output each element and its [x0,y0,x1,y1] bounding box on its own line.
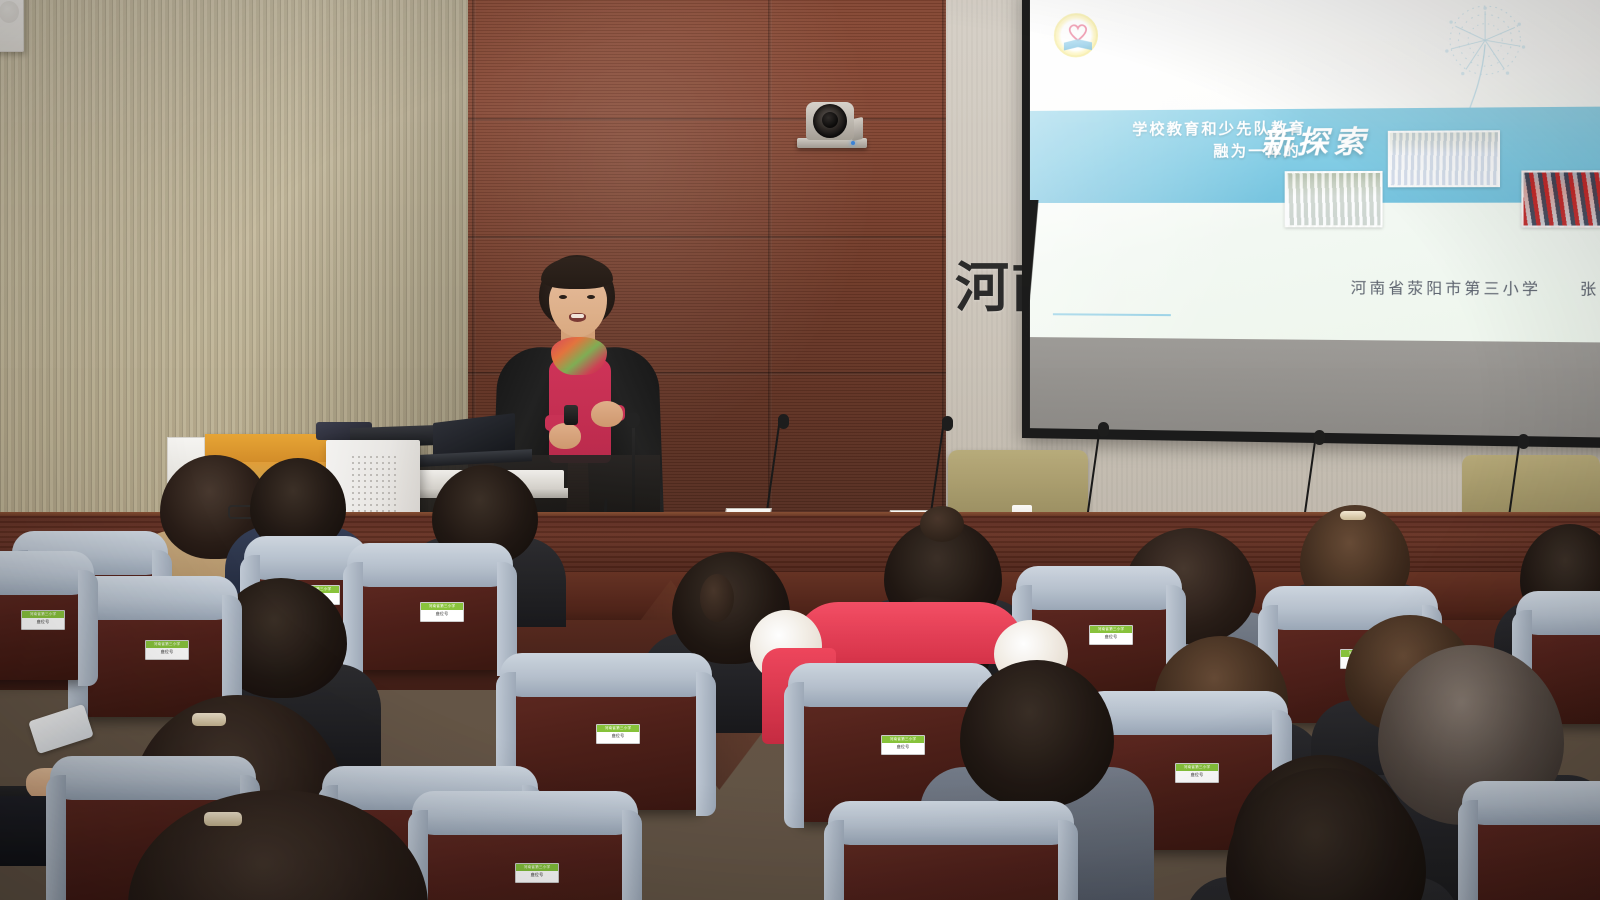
seat-label-top: 河南省第三小学 [1176,764,1218,771]
ponytail [700,574,734,622]
presenter-hair-fringe [541,257,613,289]
seat-label-top: 河南省第三小学 [22,611,64,618]
presenter-eye-right [587,295,595,299]
seat-side-right [1058,820,1078,900]
audience-woman-foreground [128,790,428,900]
presenter-mouth [569,313,586,322]
photo-students-assembly [1388,130,1499,187]
seat-headrest [500,653,712,697]
seat-r3-c5[interactable] [1470,790,1600,900]
seat-label-top: 河南省第三小学 [1090,626,1132,633]
seat-label-top: 河南省第三小学 [421,603,463,610]
seat-label-top: 河南省第三小学 [516,864,558,871]
presenter-eye-left [559,295,567,299]
seat-headrest [347,543,513,587]
seat-side-right [622,810,642,900]
hair-clip [1340,511,1366,520]
seat-headrest [412,791,638,835]
seat-side-left [46,775,66,900]
presenter-hand-left [549,423,581,449]
seat-number-label: 河南省第三小学 座位号 [1089,625,1133,645]
seat-number-label: 河南省第三小学 座位号 [596,724,640,744]
seat-number-label: 河南省第三小学 座位号 [145,640,189,660]
screen-left-edge-mask [1022,197,1600,344]
seat-side-left [824,820,844,900]
seat-label-top: 河南省第三小学 [882,736,924,743]
mic-capsule [1098,422,1109,437]
hair-clip [192,713,226,726]
hair-bun [920,506,964,542]
seat-label-top: 河南省第三小学 [146,641,188,648]
seat-side-right [696,672,716,816]
presenter-hand-right [591,401,623,427]
mic-capsule [1518,434,1529,449]
presentation-clicker [564,405,578,425]
seat-r2-c0[interactable]: 河南省第三小学 座位号 [0,560,86,680]
ceiling-speaker-panel [0,0,24,52]
seat-side-left [1458,800,1478,900]
seat-number-label: 河南省第三小学 座位号 [1175,763,1219,783]
camera-lens-icon [822,112,838,128]
screen-blank-area [1030,337,1600,438]
audience-head [960,660,1114,808]
seat-number-label: 河南省第三小学 座位号 [21,610,65,630]
seat-number-label: 河南省第三小学 座位号 [420,602,464,622]
seat-r1-c3[interactable]: 河南省第三小学 座位号 [355,552,505,670]
mic-capsule [1314,430,1325,445]
hair-ornament [204,812,242,826]
seat-label-top: 河南省第三小学 [597,725,639,732]
seat-side-right [78,570,98,686]
floor-microphone-head [626,412,640,428]
seat-number-label: 河南省第三小学 座位号 [515,863,559,883]
conference-hall-photo: 河南 [0,0,1600,900]
audience-man-front-center [960,660,1114,808]
smartphone[interactable] [28,704,94,754]
school-heart-book-logo [1054,13,1098,58]
seat-r3-c3[interactable]: 河南省第三小学 座位号 [420,800,630,900]
audience-head [128,790,428,900]
camera-status-led [851,141,855,145]
slide-title-accent: 新探索 [1261,117,1370,163]
seat-side-left [784,682,804,828]
mic-capsule [942,416,953,431]
mic-capsule [778,414,789,429]
seat-headrest [1462,781,1600,825]
audience-man-foreground-right [1226,768,1426,900]
seat-number-label: 河南省第三小学 座位号 [881,735,925,755]
heart-icon [1067,23,1089,41]
seat-r3-c4[interactable] [836,810,1066,900]
audience-head [1226,768,1426,900]
seat-headrest [828,801,1074,845]
presenter-scarf [551,337,607,375]
